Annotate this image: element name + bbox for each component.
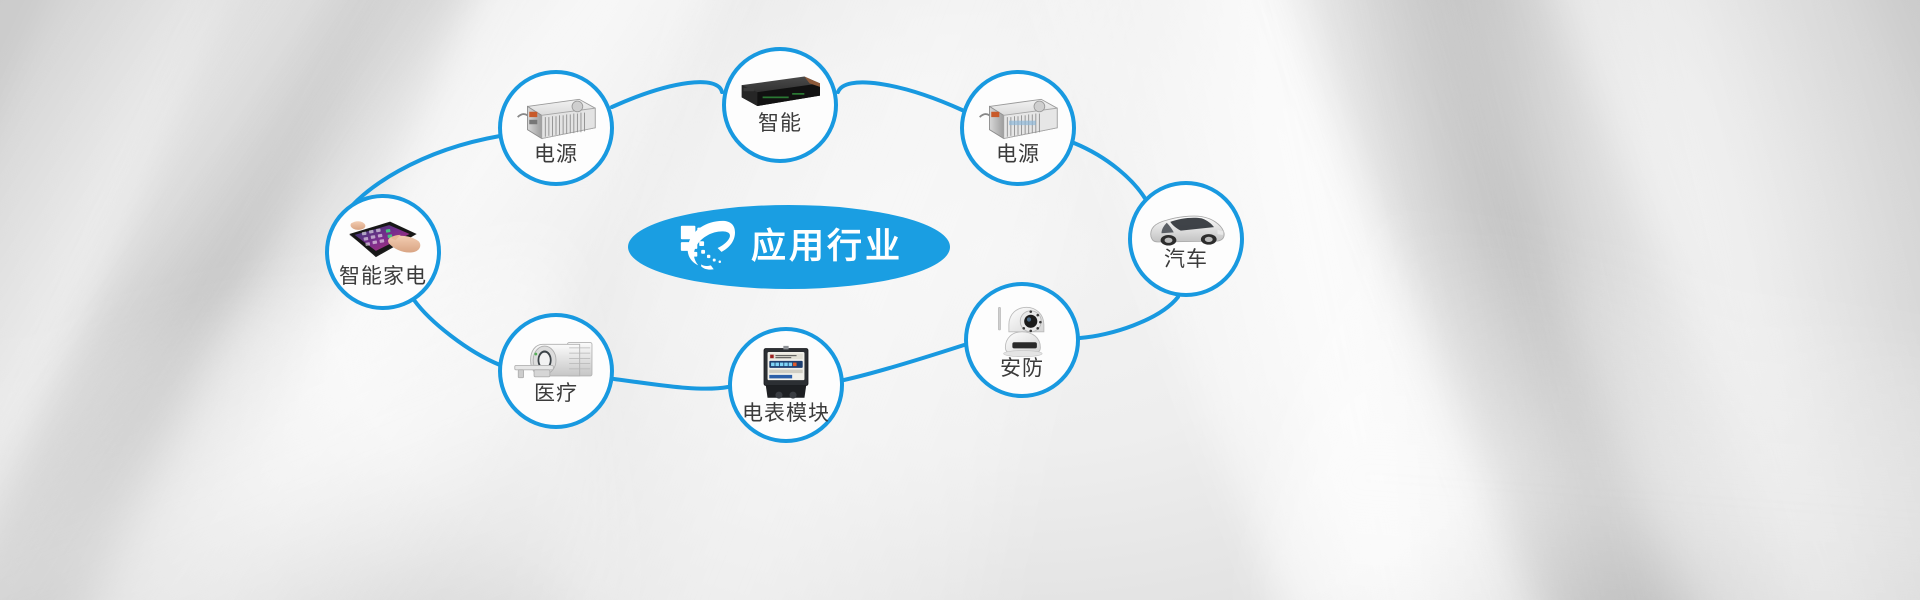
node-label: 电表模块 xyxy=(742,403,830,424)
center-badge: 应用行业 xyxy=(628,205,950,289)
node-label: 电源 xyxy=(534,144,578,165)
node-label: 智能 xyxy=(758,113,802,134)
node-meter-module[interactable]: 电表模块 xyxy=(728,327,844,443)
pixel-swoosh-logo-icon xyxy=(675,218,737,276)
node-security[interactable]: 安防 xyxy=(964,282,1080,398)
sports-car-icon xyxy=(1144,207,1228,249)
node-automotive[interactable]: 汽车 xyxy=(1128,181,1244,297)
node-power-right[interactable]: 电源 xyxy=(960,70,1076,186)
ip-camera-icon xyxy=(991,302,1053,358)
power-supply-icon xyxy=(977,92,1059,144)
center-badge-label: 应用行业 xyxy=(751,230,903,265)
banner-stage: 应用行业 xyxy=(0,0,1920,600)
node-smart-home[interactable]: 智能家电 xyxy=(325,194,441,310)
node-label: 安防 xyxy=(1000,358,1044,379)
electric-meter-icon xyxy=(760,345,812,403)
ct-scanner-icon xyxy=(513,339,599,383)
power-supply-icon xyxy=(515,92,597,144)
node-smart[interactable]: 智能 xyxy=(722,47,838,163)
rack-server-icon xyxy=(736,73,824,113)
node-power-left[interactable]: 电源 xyxy=(498,70,614,186)
connector-lines xyxy=(0,0,1920,600)
node-medical[interactable]: 医疗 xyxy=(498,313,614,429)
node-label: 电源 xyxy=(996,144,1040,165)
node-label: 智能家电 xyxy=(339,266,427,287)
node-label: 汽车 xyxy=(1164,249,1208,270)
node-label: 医疗 xyxy=(534,383,578,404)
tablet-touch-icon xyxy=(344,218,422,266)
